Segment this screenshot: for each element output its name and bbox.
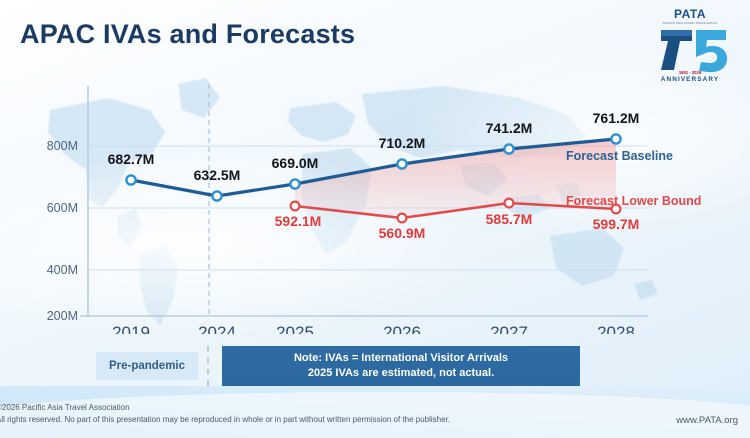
x-tick-label: 2028 <box>597 323 635 334</box>
svg-text:PATA: PATA <box>674 7 706 21</box>
y-tick-label: 800M <box>47 139 78 153</box>
data-label-baseline: 741.2M <box>486 120 533 136</box>
data-label-baseline: 632.5M <box>194 167 241 183</box>
svg-text:1951 - 2026: 1951 - 2026 <box>679 70 702 75</box>
chart-area: 800M 600M 400M 200M <box>0 84 750 334</box>
data-label-lower-bound: 560.9M <box>379 225 426 241</box>
x-tick-label: 2026 <box>383 323 421 334</box>
footer-rights: All rights reserved. No part of this pre… <box>0 415 450 424</box>
data-label-baseline: 682.7M <box>108 151 155 167</box>
legend-label-lower-bound: Forecast Lower Bound <box>566 194 701 208</box>
x-tick-label: 2024 <box>198 323 236 334</box>
data-label-lower-bound: 585.7M <box>486 211 533 227</box>
note-line-2: 2025 IVAs are estimated, not actual. <box>308 366 494 381</box>
footer-copyright: ©2026 Pacific Asia Travel Association <box>0 403 130 412</box>
x-tick-label: 2019 <box>112 323 150 334</box>
data-label-baseline: 761.2M <box>593 110 640 126</box>
slide-root: APAC IVAs and Forecasts PATA PACIFIC ASI… <box>0 0 750 438</box>
page-title: APAC IVAs and Forecasts <box>20 19 355 50</box>
pre-pandemic-label: Pre-pandemic <box>96 352 198 380</box>
x-tick-label: 2025 <box>276 323 314 334</box>
data-label-baseline: 669.0M <box>272 155 319 171</box>
data-label-baseline: 710.2M <box>379 135 426 151</box>
x-tick-label: 2027 <box>490 323 528 334</box>
y-tick-label: 200M <box>47 309 78 323</box>
data-label-lower-bound: 592.1M <box>275 213 322 229</box>
y-tick-label: 400M <box>47 263 78 277</box>
svg-text:PACIFIC ASIA TRAVEL ASSOCIATIO: PACIFIC ASIA TRAVEL ASSOCIATION <box>663 21 717 25</box>
y-tick-label: 600M <box>47 201 78 215</box>
note-box: Note: IVAs = International Visitor Arriv… <box>222 346 580 386</box>
pata-75-anniversary-logo: PATA PACIFIC ASIA TRAVEL ASSOCIATION 195… <box>644 2 736 84</box>
data-label-lower-bound: 599.7M <box>593 216 640 232</box>
svg-text:ANNIVERSARY: ANNIVERSARY <box>661 76 719 83</box>
footer-url[interactable]: www.PATA.org <box>676 415 738 426</box>
footer-band: ©2026 Pacific Asia Travel Association Al… <box>0 386 750 438</box>
note-line-1: Note: IVAs = International Visitor Arriv… <box>294 351 508 366</box>
bottom-dashed-separator <box>207 346 209 386</box>
legend-label-baseline: Forecast Baseline <box>566 149 673 163</box>
